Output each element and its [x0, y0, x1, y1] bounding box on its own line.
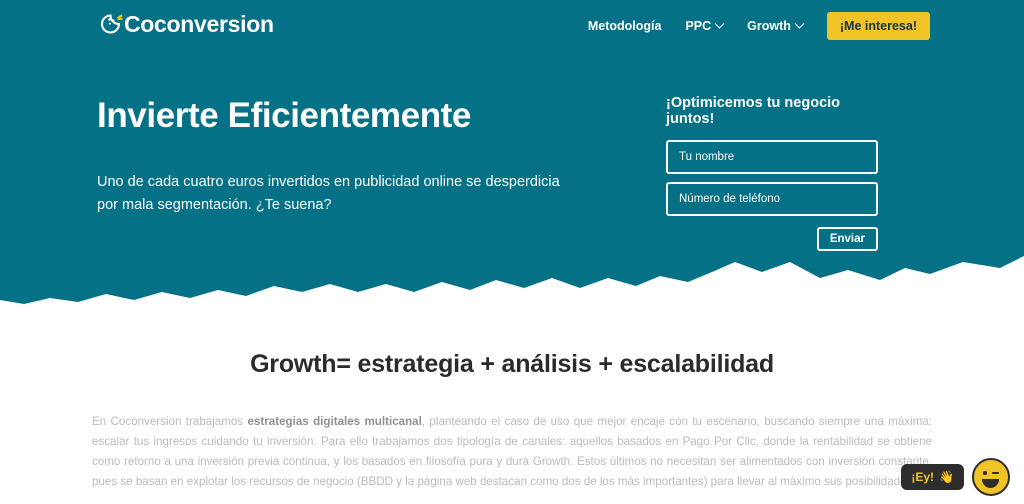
chat-greeting-bubble[interactable]: ¡Ey! 👋 — [901, 464, 964, 490]
paragraph-part-1: En Coconversion trabajamos — [92, 415, 248, 428]
section-paragraph: En Coconversion trabajamos estrategias d… — [92, 412, 932, 492]
content-section: Growth= estrategia + análisis + escalabi… — [0, 312, 1024, 492]
nav-item-label: Metodología — [588, 19, 662, 33]
hero-title: Invierte Eficientemente — [97, 96, 617, 136]
name-input[interactable] — [666, 140, 878, 174]
hero-copy: Invierte Eficientemente Uno de cada cuat… — [97, 96, 617, 216]
chevron-down-icon — [794, 18, 804, 28]
hero-subtitle: Uno de cada cuatro euros invertidos en p… — [97, 171, 567, 216]
chat-launcher-button[interactable] — [972, 458, 1010, 496]
logo-text: Coconversion — [124, 13, 274, 36]
submit-button[interactable]: Enviar — [817, 227, 878, 251]
nav-item-label: Growth — [747, 19, 791, 33]
logo[interactable]: Coconversion — [97, 8, 274, 40]
nav-links: Metodología PPC Growth ¡Me interesa! — [576, 12, 930, 40]
smiley-eye-left-icon — [983, 471, 987, 475]
cta-me-interesa-button[interactable]: ¡Me interesa! — [827, 12, 930, 40]
nav-item-metodologia[interactable]: Metodología — [576, 15, 674, 37]
chat-widget: ¡Ey! 👋 — [901, 458, 1010, 496]
phone-input[interactable] — [666, 182, 878, 216]
lead-form: ¡Optimicemos tu negocio juntos! Enviar — [666, 95, 878, 251]
form-title: ¡Optimicemos tu negocio juntos! — [666, 95, 878, 127]
chat-greeting-label: ¡Ey! — [911, 470, 934, 484]
nav-item-growth[interactable]: Growth — [735, 15, 815, 37]
paragraph-bold-phrase: estrategias digitales multicanal — [248, 415, 422, 428]
waving-hand-icon: 👋 — [939, 470, 954, 484]
smiley-mouth-icon — [982, 479, 999, 488]
navbar: Coconversion Metodología PPC Growth ¡Me … — [0, 0, 1024, 48]
chevron-down-icon — [715, 18, 725, 28]
smiley-eye-right-icon — [992, 472, 999, 474]
submit-row: Enviar — [666, 227, 878, 251]
coconut-logo-icon — [97, 9, 127, 39]
nav-item-label: PPC — [685, 19, 711, 33]
hero-section: Coconversion Metodología PPC Growth ¡Me … — [0, 0, 1024, 312]
nav-item-ppc[interactable]: PPC — [673, 15, 735, 37]
section-title: Growth= estrategia + análisis + escalabi… — [0, 350, 1024, 379]
